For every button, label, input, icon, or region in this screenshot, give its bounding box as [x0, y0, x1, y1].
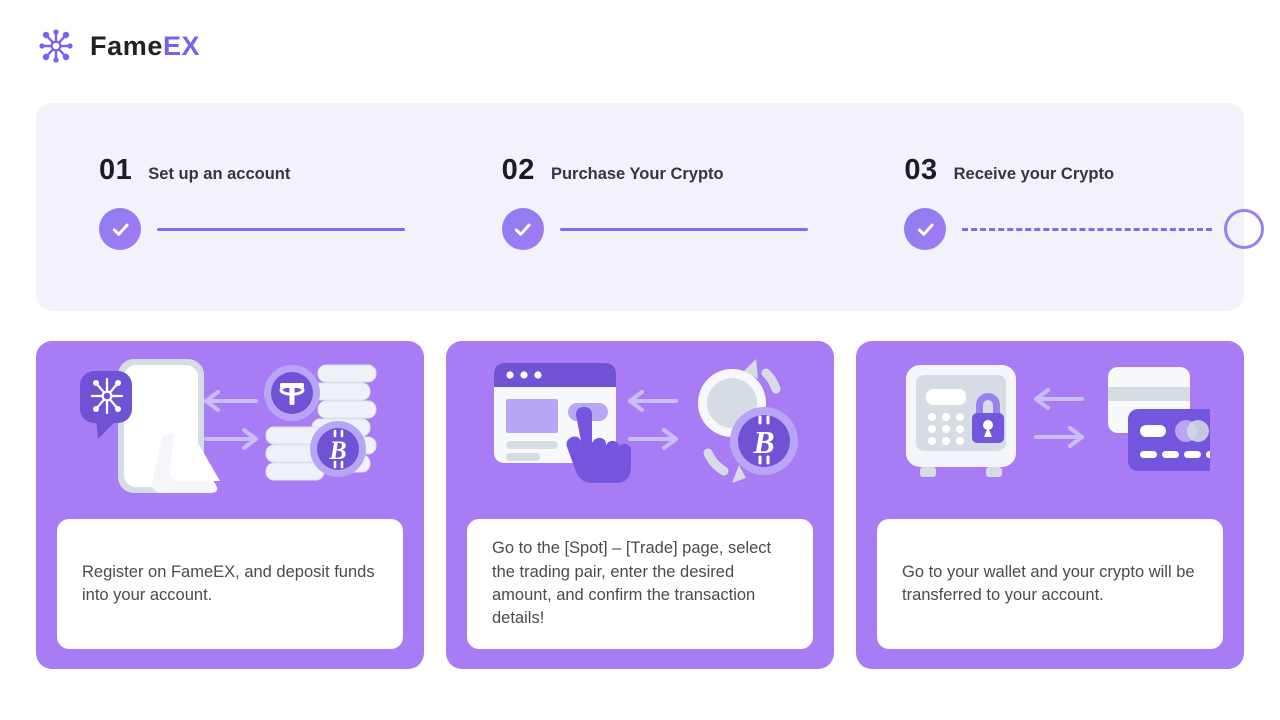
- step-number: 01: [99, 156, 132, 185]
- card-description: Go to the [Spot] – [Trade] page, select …: [492, 537, 788, 631]
- check-icon: [99, 208, 141, 250]
- step-label: Receive your Crypto: [954, 166, 1114, 183]
- step-header: 03 Receive your Crypto: [841, 103, 1244, 185]
- brand-wordmark: FameEX: [90, 33, 200, 60]
- step-label: Purchase Your Crypto: [551, 166, 724, 183]
- connector-line-solid: [560, 228, 808, 231]
- brand-logo[interactable]: FameEX: [36, 26, 200, 66]
- steps-cards-row: B Register on FameEX, and deposit funds …: [36, 341, 1244, 669]
- step-track: [502, 208, 808, 250]
- step-number: 03: [904, 156, 937, 185]
- svg-text:B: B: [328, 436, 346, 465]
- step-header: 01 Set up an account: [36, 103, 439, 185]
- brand-name-accent: EX: [163, 31, 200, 61]
- step-item-01[interactable]: 01 Set up an account: [36, 103, 439, 311]
- card-description: Register on FameEX, and deposit funds in…: [82, 561, 378, 608]
- step-item-03[interactable]: 03 Receive your Crypto: [841, 103, 1244, 311]
- connector-line-solid: [157, 228, 405, 231]
- step-card-3[interactable]: Go to your wallet and your crypto will b…: [856, 341, 1244, 669]
- step-item-02[interactable]: 02 Purchase Your Crypto: [439, 103, 842, 311]
- step-label: Set up an account: [148, 166, 290, 183]
- safe-wallet-cards-illustration: [856, 341, 1244, 516]
- step-number: 02: [502, 156, 535, 185]
- browser-click-swap-illustration: B: [446, 341, 834, 516]
- brand-name-primary: Fame: [90, 31, 163, 61]
- card-text-box: Go to the [Spot] – [Trade] page, select …: [467, 519, 813, 649]
- empty-circle-marker: [1224, 209, 1264, 249]
- phone-chat-coins-illustration: B: [36, 341, 424, 516]
- svg-text:B: B: [752, 424, 774, 460]
- connector-line-dashed: [962, 228, 1212, 231]
- check-icon: [904, 208, 946, 250]
- card-text-box: Register on FameEX, and deposit funds in…: [57, 519, 403, 649]
- step-card-1[interactable]: B Register on FameEX, and deposit funds …: [36, 341, 424, 669]
- progress-steps-panel: 01 Set up an account 02 Purchase Your Cr…: [36, 103, 1244, 311]
- step-header: 02 Purchase Your Crypto: [439, 103, 842, 185]
- check-icon: [502, 208, 544, 250]
- step-track: [99, 208, 405, 250]
- step-card-2[interactable]: B Go to the [Spot] – [Trade] page, selec…: [446, 341, 834, 669]
- fameex-network-logo-icon: [36, 26, 76, 66]
- page-root: FameEX 01 Set up an account: [0, 0, 1280, 720]
- card-description: Go to your wallet and your crypto will b…: [902, 561, 1198, 608]
- card-text-box: Go to your wallet and your crypto will b…: [877, 519, 1223, 649]
- step-track: [904, 208, 1264, 250]
